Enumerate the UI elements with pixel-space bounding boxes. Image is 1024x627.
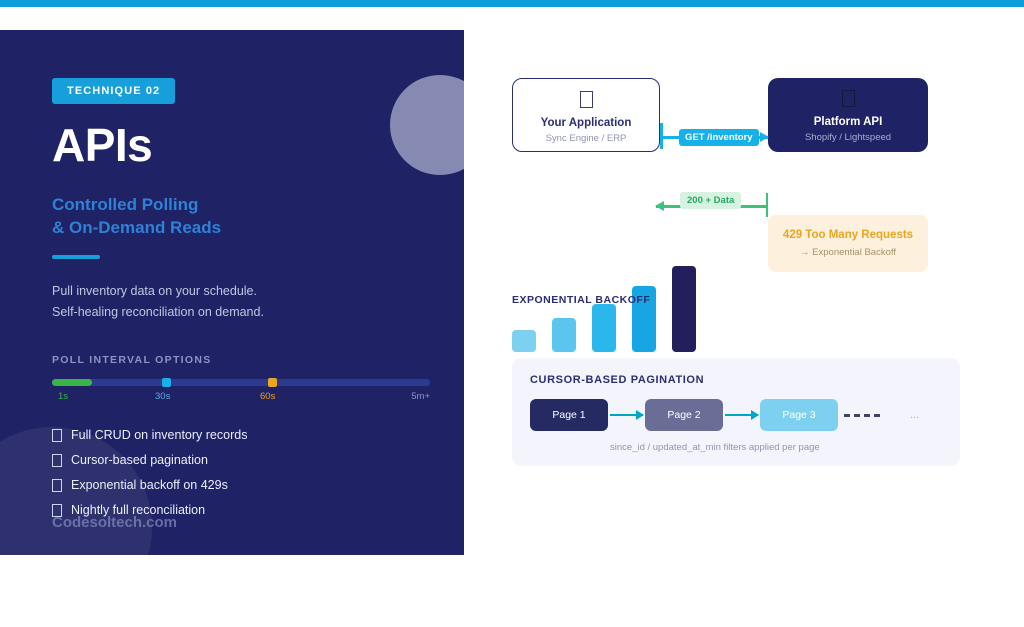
slider-stop-60s[interactable] — [268, 378, 277, 387]
node-subtitle: Shopify / Lightspeed — [768, 132, 928, 143]
bar — [592, 304, 616, 352]
bar — [512, 330, 536, 352]
page-box-1[interactable]: Page 1 — [530, 399, 608, 431]
bar-column: 2s — [552, 318, 576, 352]
slider-stop-30s[interactable] — [162, 378, 171, 387]
pagination-arrow-icon — [725, 414, 758, 417]
page-description: Pull inventory data on your schedule. Se… — [52, 281, 464, 324]
description-line-1: Pull inventory data on your schedule. — [52, 281, 464, 303]
feature-label: Cursor-based pagination — [71, 454, 208, 467]
slider-label-5m: 5m+ — [411, 391, 430, 402]
page-box-2[interactable]: Page 2 — [645, 399, 723, 431]
pagination-ellipsis: ... — [910, 409, 919, 421]
bullet-box-icon — [52, 479, 62, 492]
slider-label-30s: 30s — [155, 391, 170, 402]
response-label: 200 + Data — [680, 192, 741, 209]
slider-tick-labels: 1s 30s 60s 5m+ — [52, 391, 430, 407]
page-box-3[interactable]: Page 3 — [760, 399, 838, 431]
feature-label: Full CRUD on inventory records — [71, 429, 247, 442]
slider-label-1s: 1s — [58, 391, 68, 402]
bar-group: 1s 2s 4s 8s 16s — [512, 266, 702, 352]
slider-fill — [52, 379, 92, 386]
poll-interval-slider[interactable]: 1s 30s 60s 5m+ — [52, 379, 430, 407]
subtitle-line-1: Controlled Polling — [52, 194, 464, 217]
node-title: Platform API — [768, 116, 928, 128]
bar — [552, 318, 576, 352]
node-title: Your Application — [513, 117, 659, 129]
page-title: APIs — [52, 122, 464, 168]
title-divider — [52, 255, 100, 259]
callout-subtitle: → Exponential Backoff — [778, 247, 918, 258]
bullet-box-icon — [52, 454, 62, 467]
slider-label-60s: 60s — [260, 391, 275, 402]
list-item: Full CRUD on inventory records — [52, 429, 464, 454]
watermark: Codesoltech.com — [52, 514, 177, 531]
slider-track[interactable] — [52, 379, 430, 386]
cloud-server-icon — [842, 90, 855, 107]
exponential-backoff-chart: EXPONENTIAL BACKOFF 1s 2s 4s 8s 16s — [512, 270, 712, 370]
description-line-2: Self-healing reconciliation on demand. — [52, 302, 464, 324]
node-subtitle: Sync Engine / ERP — [513, 133, 659, 144]
pagination-dashed-line — [844, 414, 880, 417]
callout-title: 429 Too Many Requests — [778, 229, 918, 241]
left-hero-panel: TECHNIQUE 02 APIs Controlled Polling & O… — [0, 30, 464, 555]
poll-interval-section-label: POLL INTERVAL OPTIONS — [52, 354, 464, 366]
bar-column: 16s — [672, 266, 696, 352]
chart-title: EXPONENTIAL BACKOFF — [512, 294, 650, 306]
bar — [672, 266, 696, 352]
diagram-canvas: Your Application Sync Engine / ERP Platf… — [464, 30, 1024, 555]
pagination-footnote: since_id / updated_at_min filters applie… — [610, 442, 960, 453]
cursor-pagination-panel: CURSOR-BASED PAGINATION Page 1 Page 2 Pa… — [512, 358, 960, 466]
list-item: Cursor-based pagination — [52, 454, 464, 479]
technique-badge: TECHNIQUE 02 — [52, 78, 175, 104]
pagination-arrow-icon — [610, 414, 643, 417]
request-label: GET /inventory — [679, 129, 759, 146]
subtitle-line-2: & On-Demand Reads — [52, 217, 464, 240]
list-item: Exponential backoff on 429s — [52, 479, 464, 504]
your-application-node: Your Application Sync Engine / ERP — [512, 78, 660, 152]
bullet-box-icon — [52, 429, 62, 442]
page-subtitle: Controlled Polling & On-Demand Reads — [52, 194, 464, 240]
feature-label: Exponential backoff on 429s — [71, 479, 228, 492]
pagination-title: CURSOR-BASED PAGINATION — [530, 374, 960, 386]
platform-api-node: Platform API Shopify / Lightspeed — [768, 78, 928, 152]
bar-column: 4s — [592, 304, 616, 352]
app-window-icon — [580, 91, 593, 108]
top-accent-bar — [0, 0, 1024, 7]
pagination-sequence: Page 1 Page 2 Page 3 ... — [530, 399, 960, 431]
rate-limit-callout: 429 Too Many Requests → Exponential Back… — [768, 215, 928, 272]
bar-column: 1s — [512, 330, 536, 352]
